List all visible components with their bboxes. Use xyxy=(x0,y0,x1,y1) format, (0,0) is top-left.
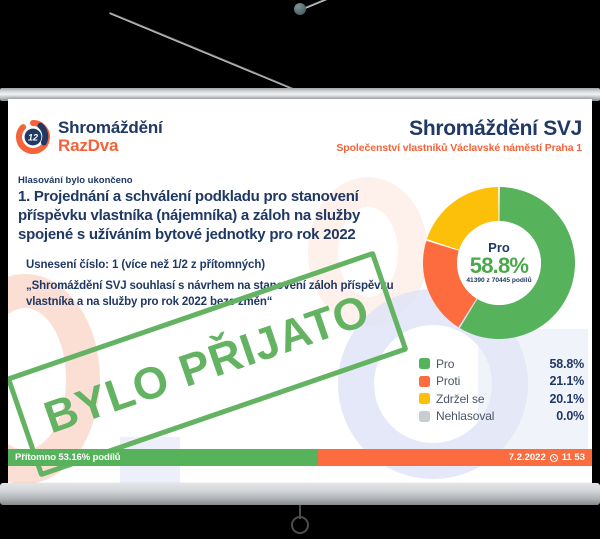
legend-value-nehlasoval: 0.0% xyxy=(556,409,584,423)
attendance-bar: Přítomno 53.16% podílů 7.2.2022 11 53 xyxy=(8,449,592,466)
page-title: Shromáždění SVJ xyxy=(336,117,582,141)
legend-value-proti: 21.1% xyxy=(550,374,584,388)
legend-swatch-nehlasoval xyxy=(419,411,430,422)
clock-icon xyxy=(550,454,558,462)
slide-header: Shromáždění SVJ Společenství vlastníků V… xyxy=(336,117,582,154)
clock-12-logo-icon: 12 xyxy=(16,120,50,154)
brand-line-2: RazDva xyxy=(58,137,163,155)
legend-value-pro: 58.8% xyxy=(550,357,584,371)
svg-text:12: 12 xyxy=(28,133,38,143)
proposal-title: 1. Projednání a schválení podkladu pro s… xyxy=(18,187,408,245)
page-subtitle: Společenství vlastníků Václavské náměstí… xyxy=(336,142,582,154)
projection-slide: 12 Shromáždění RazDva Shromáždění SVJ Sp… xyxy=(8,99,592,484)
screen-wire-left xyxy=(109,12,299,92)
legend-swatch-proti xyxy=(419,376,430,387)
legend-row: Proti 21.1% xyxy=(419,373,584,391)
results-legend: Pro 58.8% Proti 21.1% Zdržel se 20.1% Ne… xyxy=(419,355,584,425)
footer-date: 7.2.2022 xyxy=(509,452,546,463)
screen-wire-right xyxy=(300,0,491,11)
legend-swatch-zdrzel-se xyxy=(419,393,430,404)
legend-label-nehlasoval: Nehlasoval xyxy=(436,409,556,423)
legend-label-pro: Pro xyxy=(436,357,550,371)
brand-logo: 12 Shromáždění RazDva xyxy=(16,119,163,156)
donut-center-subtext: 41390 z 70445 podílů xyxy=(466,278,531,285)
legend-swatch-pro xyxy=(419,358,430,369)
ceiling-hook xyxy=(294,3,306,15)
legend-row: Zdržel se 20.1% xyxy=(419,390,584,408)
attendance-label: Přítomno 53.16% podílů xyxy=(8,452,120,463)
screen-bottom-bar xyxy=(0,483,600,505)
legend-row: Nehlasoval 0.0% xyxy=(419,408,584,426)
legend-label-proti: Proti xyxy=(436,374,550,388)
brand-line-1: Shromáždění xyxy=(58,119,163,137)
donut-center-percent: 58.8% xyxy=(470,254,528,277)
projector-screen-scene: 12 Shromáždění RazDva Shromáždění SVJ Sp… xyxy=(0,0,600,539)
legend-row: Pro 58.8% xyxy=(419,355,584,373)
donut-center-label: Pro 58.8% 41390 z 70445 podílů xyxy=(457,221,541,305)
footer-datetime: 7.2.2022 11 53 xyxy=(509,452,592,463)
footer-time: 11 53 xyxy=(562,452,585,463)
legend-label-zdrzel-se: Zdržel se xyxy=(436,392,550,406)
results-donut-chart: Pro 58.8% 41390 z 70445 podílů xyxy=(419,183,579,343)
voting-status: Hlasování bylo ukončeno xyxy=(18,175,133,186)
legend-value-zdrzel-se: 20.1% xyxy=(550,392,584,406)
pull-ring-handle[interactable] xyxy=(291,516,309,534)
